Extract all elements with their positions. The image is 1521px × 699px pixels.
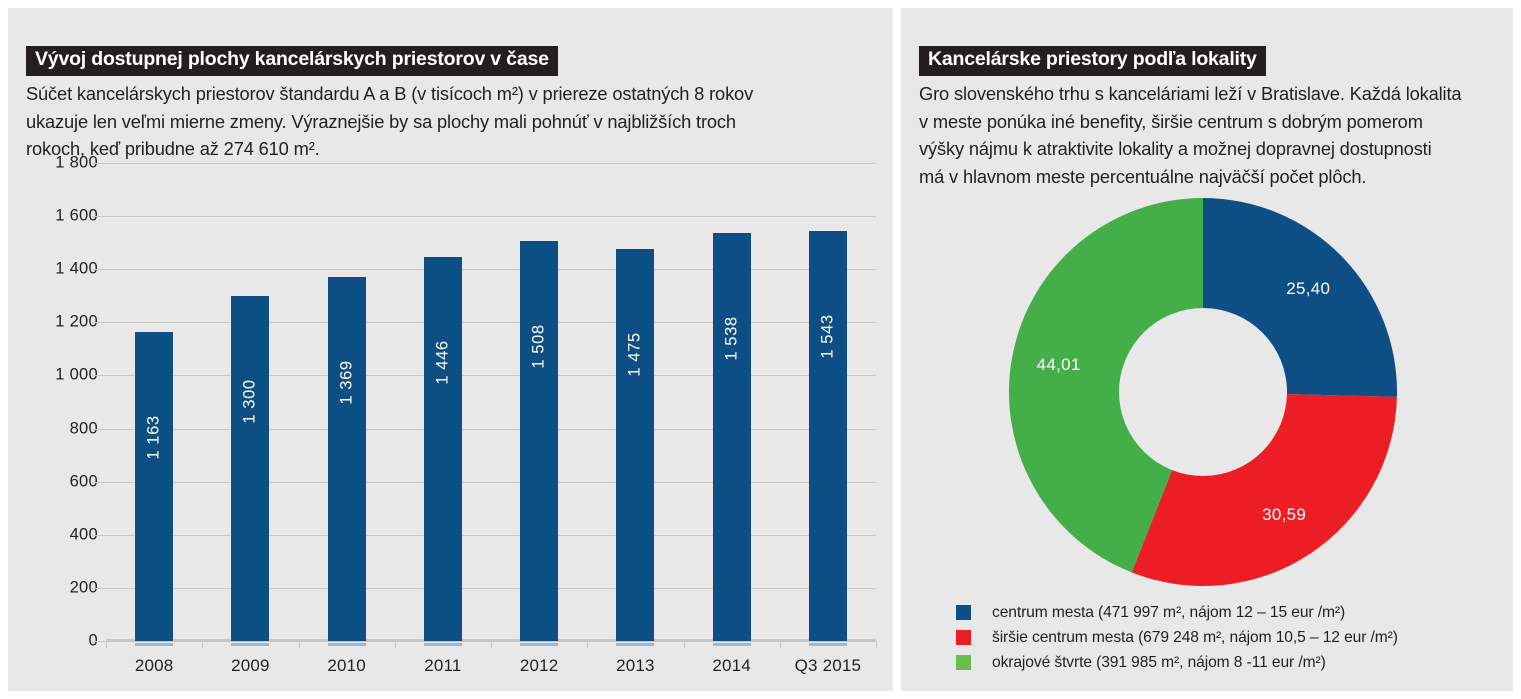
bar-underline	[616, 643, 654, 646]
x-axis-tick-mark	[587, 641, 588, 648]
y-axis-tick-label: 400	[28, 525, 98, 544]
legend-item-label: okrajové štvrte (391 985 m², nájom 8 -11…	[992, 654, 1326, 672]
y-axis-tick-label: 200	[28, 578, 98, 597]
legend-item[interactable]: širšie centrum mesta (679 248 m², nájom …	[956, 625, 1398, 650]
x-axis-tick-mark	[395, 641, 396, 648]
bar-slot: 1 543	[780, 163, 876, 641]
bar-slot: 1 369	[299, 163, 395, 641]
bar-underline	[135, 643, 173, 646]
y-axis-tick-mark	[92, 269, 106, 270]
y-axis-tick-label: 1 000	[28, 366, 98, 385]
bar-value-label: 1 475	[626, 305, 645, 405]
x-axis-tick-mark	[299, 641, 300, 648]
bar-underline	[520, 643, 558, 646]
donut-chart-legend: centrum mesta (471 997 m², nájom 12 – 15…	[956, 600, 1398, 675]
legend-item[interactable]: centrum mesta (471 997 m², nájom 12 – 15…	[956, 600, 1398, 625]
bar-value-label: 1 163	[145, 388, 164, 488]
right-intro-line-1: Gro slovenského trhu s kanceláriami leží…	[919, 80, 1499, 108]
y-axis-tick-label: 0	[28, 632, 98, 651]
bar-slot: 1 508	[491, 163, 587, 641]
right-intro-line-4: má v hlavnom meste percentuálne najväčší…	[919, 163, 1499, 191]
right-intro-line-2: v meste ponúka iné benefity, širšie cent…	[919, 108, 1499, 136]
y-axis-tick-label: 1 400	[28, 260, 98, 279]
legend-item-label: širšie centrum mesta (679 248 m², nájom …	[992, 629, 1398, 647]
y-axis-tick-mark	[92, 641, 106, 642]
bar-underline	[809, 643, 847, 646]
bar[interactable]	[231, 296, 269, 641]
donut-slice-value-label: 44,01	[1037, 355, 1081, 375]
y-axis-tick-mark	[92, 163, 106, 164]
right-intro-line-3: výšky nájmu k atraktivite lokality a mož…	[919, 135, 1499, 163]
bar-slot: 1 475	[587, 163, 683, 641]
bar-chart-plot-area: 1 1631 3001 3691 4461 5081 4751 5381 543	[106, 163, 876, 641]
y-axis-tick-mark	[92, 216, 106, 217]
bar-value-label: 1 538	[722, 288, 741, 388]
y-axis-tick-mark	[92, 482, 106, 483]
x-axis-tick-mark	[684, 641, 685, 648]
bar-underline	[713, 643, 751, 646]
bar-slot: 1 446	[395, 163, 491, 641]
y-axis-tick-mark	[92, 588, 106, 589]
y-axis-tick-mark	[92, 429, 106, 430]
x-axis-tick-mark	[202, 641, 203, 648]
y-axis-tick-mark	[92, 535, 106, 536]
legend-swatch-icon	[956, 630, 971, 645]
infographic-stage: Vývoj dostupnej plochy kancelárskych pri…	[0, 0, 1521, 699]
bar-underline	[328, 643, 366, 646]
y-axis-tick-mark	[92, 375, 106, 376]
legend-item[interactable]: okrajové štvrte (391 985 m², nájom 8 -11…	[956, 650, 1398, 675]
bar-value-label: 1 446	[433, 313, 452, 413]
y-axis-tick-mark	[92, 322, 106, 323]
bar-slot: 1 300	[202, 163, 298, 641]
panel-office-space-over-time: Vývoj dostupnej plochy kancelárskych pri…	[8, 8, 893, 691]
bar-chart-y-axis: 02004006008001 0001 2001 4001 6001 800	[28, 163, 98, 641]
bar-underline	[231, 643, 269, 646]
donut-slice-value-label: 25,40	[1286, 279, 1330, 299]
legend-item-label: centrum mesta (471 997 m², nájom 12 – 15…	[992, 604, 1345, 622]
bar-value-label: 1 508	[530, 296, 549, 396]
legend-swatch-icon	[956, 655, 971, 670]
y-axis-tick-label: 800	[28, 419, 98, 438]
bar-value-label: 1 300	[241, 351, 260, 451]
y-axis-tick-label: 1 200	[28, 313, 98, 332]
legend-swatch-icon	[956, 605, 971, 620]
bar-value-label: 1 369	[337, 333, 356, 433]
bar-chart: 02004006008001 0001 2001 4001 6001 800 1…	[8, 8, 893, 691]
donut-svg	[1009, 198, 1397, 586]
right-panel-heading: Kancelárske priestory podľa lokality	[919, 46, 1266, 76]
donut-chart: 25,4030,5944,01	[1009, 198, 1397, 586]
bar-underline	[424, 643, 462, 646]
x-axis-category-label: Q3 2015	[768, 656, 888, 676]
bar-slot: 1 538	[684, 163, 780, 641]
x-axis-tick-mark	[780, 641, 781, 648]
y-axis-tick-label: 1 800	[28, 154, 98, 173]
donut-slice-value-label: 30,59	[1262, 505, 1306, 525]
donut-hole	[1119, 308, 1287, 476]
y-axis-tick-label: 1 600	[28, 207, 98, 226]
y-axis-tick-label: 600	[28, 472, 98, 491]
panel-office-space-by-location: Kancelárske priestory podľa lokality Gro…	[901, 8, 1513, 691]
bar-value-label: 1 543	[818, 287, 837, 387]
right-panel-intro: Gro slovenského trhu s kanceláriami leží…	[919, 80, 1499, 191]
x-axis-tick-mark	[876, 641, 877, 648]
bar-slot: 1 163	[106, 163, 202, 641]
x-axis-tick-mark	[106, 641, 107, 648]
x-axis-tick-mark	[491, 641, 492, 648]
